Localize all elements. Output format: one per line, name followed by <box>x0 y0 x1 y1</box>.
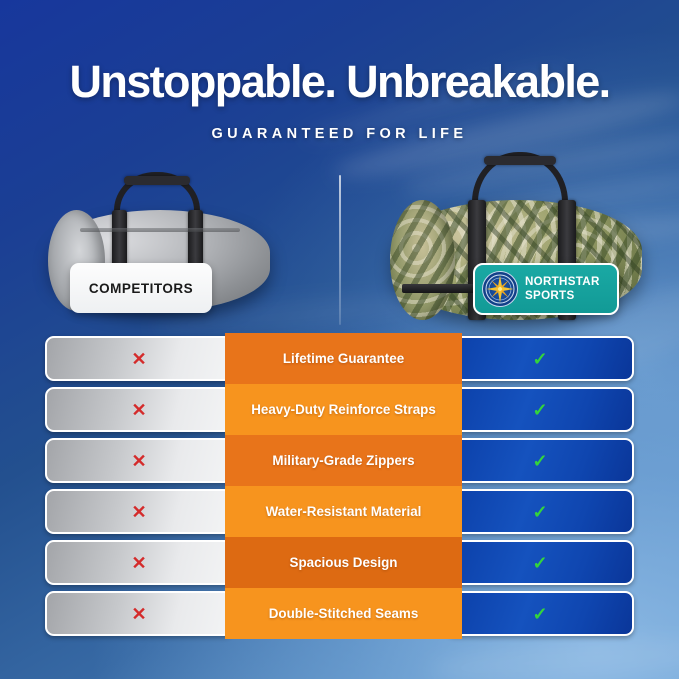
comparison-table: ✕✓Lifetime Guarantee✕✓Heavy-Duty Reinfor… <box>0 0 679 679</box>
brand-cell: ✓ <box>446 387 634 432</box>
feature-label: Military-Grade Zippers <box>225 435 462 486</box>
competitor-cell: ✕ <box>45 489 233 534</box>
check-icon: ✓ <box>532 605 547 623</box>
feature-label-text: Water-Resistant Material <box>266 504 422 519</box>
feature-label: Double-Stitched Seams <box>225 588 462 639</box>
check-icon: ✓ <box>532 401 547 419</box>
cross-icon: ✕ <box>131 452 146 470</box>
check-icon: ✓ <box>532 503 547 521</box>
check-icon: ✓ <box>532 350 547 368</box>
table-row: ✕✓Double-Stitched Seams <box>0 588 679 639</box>
brand-cell: ✓ <box>446 438 634 483</box>
competitor-cell: ✕ <box>45 387 233 432</box>
feature-label-text: Double-Stitched Seams <box>269 606 419 621</box>
brand-cell: ✓ <box>446 336 634 381</box>
feature-label-text: Lifetime Guarantee <box>283 351 404 366</box>
brand-cell: ✓ <box>446 591 634 636</box>
feature-label: Heavy-Duty Reinforce Straps <box>225 384 462 435</box>
competitor-cell: ✕ <box>45 591 233 636</box>
table-row: ✕✓Military-Grade Zippers <box>0 435 679 486</box>
feature-label-text: Spacious Design <box>290 555 398 570</box>
feature-label: Spacious Design <box>225 537 462 588</box>
feature-label: Water-Resistant Material <box>225 486 462 537</box>
brand-cell: ✓ <box>446 489 634 534</box>
table-row: ✕✓Lifetime Guarantee <box>0 333 679 384</box>
feature-label-text: Military-Grade Zippers <box>272 453 414 468</box>
cross-icon: ✕ <box>131 503 146 521</box>
promo-graphic: Unstoppable. Unbreakable. GUARANTEED FOR… <box>0 0 679 679</box>
competitor-cell: ✕ <box>45 438 233 483</box>
competitor-cell: ✕ <box>45 336 233 381</box>
table-row: ✕✓Water-Resistant Material <box>0 486 679 537</box>
feature-label-text: Heavy-Duty Reinforce Straps <box>251 402 436 417</box>
cross-icon: ✕ <box>131 554 146 572</box>
table-row: ✕✓Heavy-Duty Reinforce Straps <box>0 384 679 435</box>
check-icon: ✓ <box>532 554 547 572</box>
competitor-cell: ✕ <box>45 540 233 585</box>
check-icon: ✓ <box>532 452 547 470</box>
cross-icon: ✕ <box>131 605 146 623</box>
table-row: ✕✓Spacious Design <box>0 537 679 588</box>
feature-label: Lifetime Guarantee <box>225 333 462 384</box>
cross-icon: ✕ <box>131 401 146 419</box>
brand-cell: ✓ <box>446 540 634 585</box>
cross-icon: ✕ <box>131 350 146 368</box>
